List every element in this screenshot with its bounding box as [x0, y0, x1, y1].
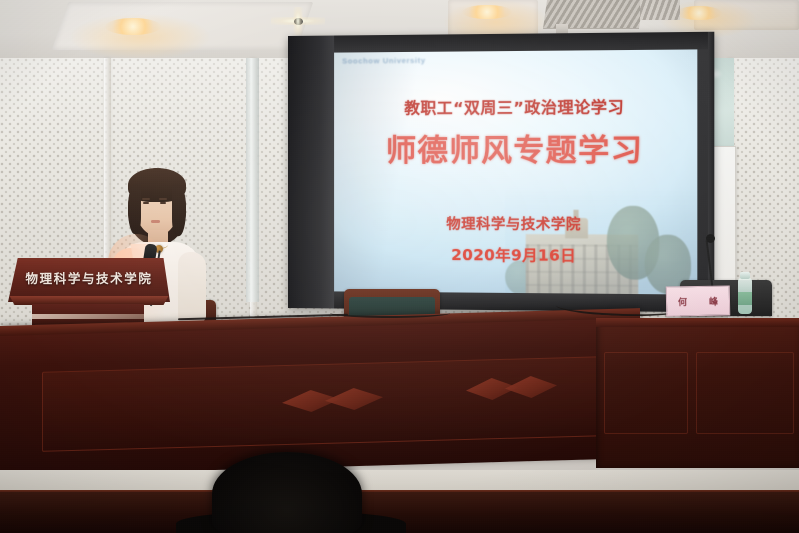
name-card: 何 峰: [666, 285, 731, 316]
speaker-arm-right: [178, 252, 206, 322]
slide-campus-photo: [505, 185, 697, 294]
stage-desk: [0, 318, 799, 478]
slide-organization: 物理科学与技术学院: [334, 213, 697, 235]
speaker-mouth: [151, 220, 160, 223]
podium-label: 物理科学与技术学院: [8, 268, 170, 287]
wall-metal-strip: [246, 58, 259, 302]
desk-right-panel-2: [696, 352, 794, 434]
downlight-icon-left: [105, 18, 161, 35]
screen-frame-left: [288, 36, 334, 309]
lecture-hall-photo: Soochow University 教职工“双周三”政治理论学习 师德师风专题…: [0, 0, 799, 533]
desk-microphone-icon: [706, 234, 715, 243]
speaker-hair-side-right: [172, 184, 186, 236]
projection-screen: Soochow University 教职工“双周三”政治理论学习 师德师风专题…: [288, 32, 714, 313]
projected-slide: Soochow University 教职工“双周三”政治理论学习 师德师风专题…: [334, 49, 697, 294]
speaker-eyebrow-left: [142, 198, 150, 200]
star-downlight-core: [294, 18, 303, 25]
water-bottle-label: [738, 292, 752, 305]
downlight-icon-right: [676, 6, 722, 20]
star-downlight-icon: [270, 6, 326, 36]
name-card-char-1: 何: [678, 295, 687, 308]
air-conditioning-vent-secondary: [640, 0, 680, 20]
slide-watermark: Soochow University: [342, 56, 426, 66]
slide-subtitle: 教职工“双周三”政治理论学习: [334, 95, 697, 119]
desk-right-top-edge: [596, 318, 799, 327]
name-card-char-2: 峰: [709, 294, 718, 307]
audience-head: [212, 452, 362, 533]
downlight-icon-center: [462, 5, 512, 19]
speaker-eyebrow-right: [159, 198, 167, 200]
slide-title: 师德师风专题学习: [334, 125, 697, 170]
water-bottle-cap: [740, 272, 750, 279]
slide-date: 2020年9月16日: [334, 243, 697, 267]
desk-cable-2: [330, 308, 450, 318]
desk-right-panel-1: [604, 352, 688, 434]
speaker-hair-side-left: [128, 184, 141, 234]
